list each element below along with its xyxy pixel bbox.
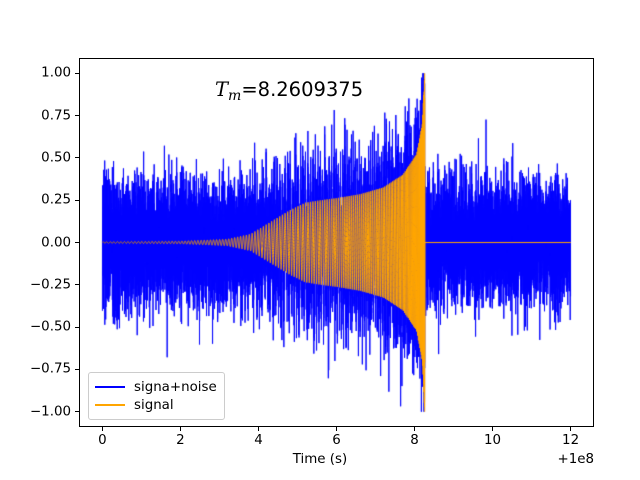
x-tick-mark (414, 427, 415, 431)
x-axis-offset-label: +1e8 (558, 452, 595, 467)
y-tick-mark (75, 73, 79, 74)
y-tick-mark (75, 242, 79, 243)
legend-item-signal: signal (95, 396, 217, 414)
y-tick-label: 0.25 (0, 193, 71, 208)
annotation-subscript: m (228, 88, 241, 104)
x-tick-label: 4 (254, 433, 263, 448)
legend-label-signal-noise: signa+noise (134, 380, 217, 395)
y-tick-mark (75, 157, 79, 158)
merger-time-annotation: Tm=8.2609375 (215, 80, 363, 103)
x-tick-label: 12 (562, 433, 579, 448)
legend-swatch-signal (95, 404, 125, 406)
x-tick-label: 10 (484, 433, 501, 448)
x-tick-label: 0 (98, 433, 107, 448)
annotation-variable: T (215, 78, 228, 101)
x-tick-mark (336, 427, 337, 431)
x-tick-mark (180, 427, 181, 431)
annotation-equals: = (241, 78, 257, 101)
y-tick-label: 0.50 (0, 150, 71, 165)
y-tick-mark (75, 369, 79, 370)
y-tick-mark (75, 115, 79, 116)
y-tick-label: −0.75 (0, 362, 71, 377)
legend-swatch-signal-noise (95, 386, 125, 388)
x-axis-label: Time (s) (0, 452, 640, 467)
y-tick-mark (75, 411, 79, 412)
legend-label-signal: signal (134, 398, 174, 413)
plot-legend[interactable]: signa+noise signal (88, 372, 225, 420)
x-tick-mark (258, 427, 259, 431)
y-tick-label: −0.50 (0, 320, 71, 335)
y-tick-label: −1.00 (0, 404, 71, 419)
y-tick-label: −0.25 (0, 277, 71, 292)
x-tick-mark (492, 427, 493, 431)
x-tick-mark (570, 427, 571, 431)
y-tick-mark (75, 200, 79, 201)
y-tick-label: 1.00 (0, 66, 71, 81)
x-tick-mark (102, 427, 103, 431)
y-tick-label: 0.75 (0, 108, 71, 123)
x-tick-label: 6 (332, 433, 341, 448)
y-tick-mark (75, 284, 79, 285)
signal-plot-canvas (80, 59, 593, 426)
x-tick-label: 2 (176, 433, 185, 448)
annotation-value: 8.2609375 (258, 78, 363, 101)
y-tick-mark (75, 327, 79, 328)
y-tick-label: 0.00 (0, 235, 71, 250)
matplotlib-figure: −1.00−0.75−0.50−0.250.000.250.500.751.00… (0, 0, 640, 480)
legend-item-signal-noise: signa+noise (95, 378, 217, 396)
x-tick-label: 8 (410, 433, 419, 448)
